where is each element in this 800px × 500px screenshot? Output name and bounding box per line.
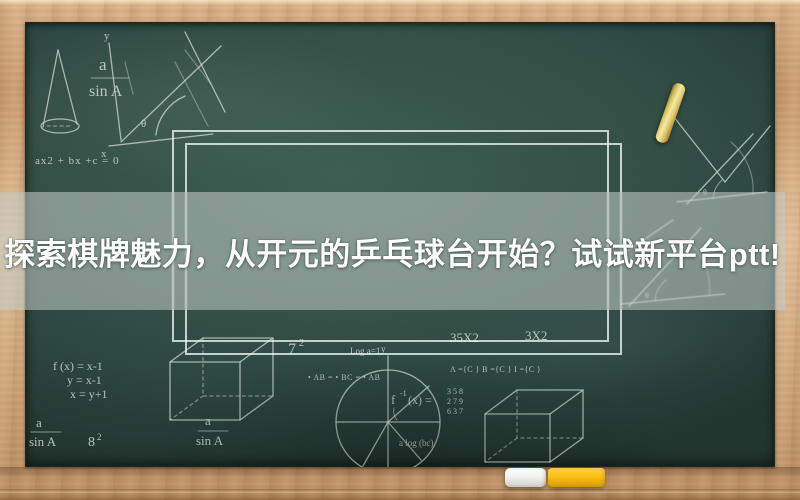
eight-squared: 8 2 xyxy=(88,432,102,450)
frame-bottom-bevel xyxy=(0,493,800,500)
stray-chalk-stroke-2 xyxy=(185,50,211,84)
cube-drawing-right xyxy=(485,390,583,462)
frame-top-bevel xyxy=(0,0,800,6)
svg-text:θ: θ xyxy=(141,118,146,130)
sine-rule-top-left: a sin A xyxy=(89,55,129,100)
midpoint-expression-text: • AB = • BC = • AB xyxy=(308,373,380,382)
svg-text:y = x-1: y = x-1 xyxy=(67,373,102,387)
blackboard-banner-image: a sin A y x θ ax2 + bx +c = xyxy=(0,0,800,500)
svg-text:3 5 8: 3 5 8 xyxy=(447,387,463,396)
svg-text:sin A: sin A xyxy=(29,434,57,449)
svg-text:sin A: sin A xyxy=(89,83,123,100)
cone-drawing xyxy=(41,50,79,133)
quadratic-equation-text: ax2 + bx +c = 0 xyxy=(35,155,120,167)
svg-text:f: f xyxy=(391,392,396,407)
svg-text:6 3 7: 6 3 7 xyxy=(447,407,463,416)
circle-radii-drawing: y xyxy=(336,344,440,467)
log-expression-text: a log (bc) xyxy=(399,438,433,448)
svg-text:a: a xyxy=(205,413,211,428)
svg-text:f (x) = x-1: f (x) = x-1 xyxy=(53,359,103,373)
svg-text:sin A: sin A xyxy=(196,433,224,448)
svg-text:x: x xyxy=(101,148,107,160)
chalk-white-tray xyxy=(505,468,546,487)
function-equations: f (x) = x-1 y = x-1 x = y+1 xyxy=(53,359,108,401)
page-title: 探索棋牌魅力，从开元的乒乓球台开始？试试新平台ptt! xyxy=(0,192,785,310)
svg-text:x = y+1: x = y+1 xyxy=(70,387,108,401)
svg-text:(x) =: (x) = xyxy=(408,393,432,407)
svg-text:2: 2 xyxy=(97,432,102,442)
svg-text:a: a xyxy=(99,55,107,74)
svg-text:2 7 9: 2 7 9 xyxy=(447,397,463,406)
stray-chalk-stroke-1 xyxy=(125,62,133,94)
set-notation-text: A ={C } B ={C } I ={C } xyxy=(450,365,541,374)
chalk-yellow-tray xyxy=(548,468,605,487)
inverse-function: f -1 (x) = 3 5 8 2 7 9 6 3 7 xyxy=(391,387,463,416)
svg-text:8: 8 xyxy=(88,435,95,450)
sine-rule-bottom-left: a sin A xyxy=(29,415,61,449)
sine-rule-center: a sin A xyxy=(196,413,228,448)
angle-sketch-right: θ xyxy=(670,112,770,204)
svg-text:a: a xyxy=(36,415,42,430)
svg-text:y: y xyxy=(104,30,110,42)
svg-text:-1: -1 xyxy=(400,389,407,398)
